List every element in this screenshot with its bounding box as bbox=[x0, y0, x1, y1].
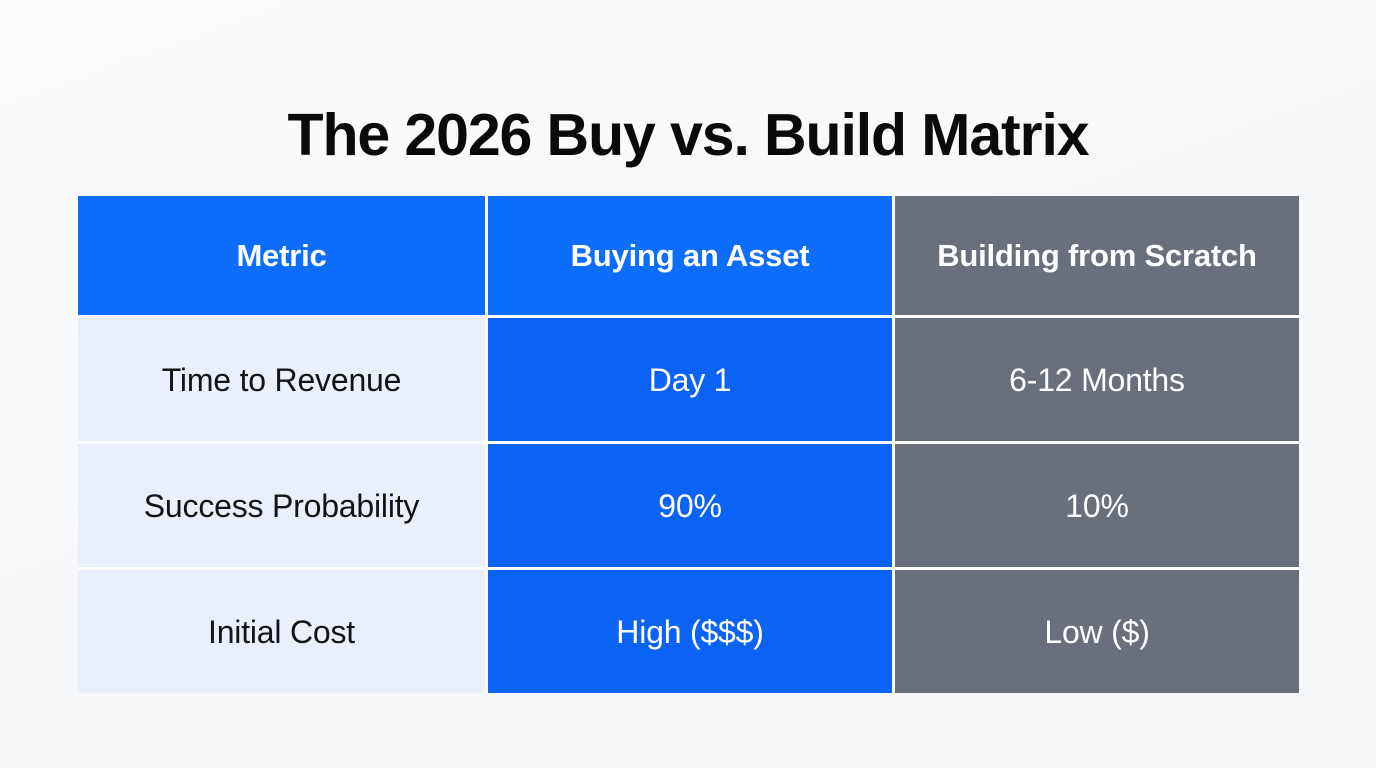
table-body: Time to Revenue Day 1 6-12 Months Succes… bbox=[78, 315, 1299, 693]
column-header-building-from-scratch: Building from Scratch bbox=[892, 196, 1299, 315]
cell-metric-success-probability: Success Probability bbox=[78, 441, 485, 567]
cell-metric-time-to-revenue: Time to Revenue bbox=[78, 315, 485, 441]
cell-building-initial-cost: Low ($) bbox=[892, 567, 1299, 693]
table-row: Initial Cost High ($$$) Low ($) bbox=[78, 567, 1299, 693]
cell-buying-success-probability: 90% bbox=[485, 441, 892, 567]
page-title: The 2026 Buy vs. Build Matrix bbox=[0, 102, 1376, 170]
cell-metric-initial-cost: Initial Cost bbox=[78, 567, 485, 693]
table-header: Metric Buying an Asset Building from Scr… bbox=[78, 196, 1299, 315]
buy-vs-build-matrix-table: Metric Buying an Asset Building from Scr… bbox=[78, 196, 1299, 693]
table-row: Success Probability 90% 10% bbox=[78, 441, 1299, 567]
column-header-metric: Metric bbox=[78, 196, 485, 315]
table-header-row: Metric Buying an Asset Building from Scr… bbox=[78, 196, 1299, 315]
cell-buying-initial-cost: High ($$$) bbox=[485, 567, 892, 693]
cell-buying-time-to-revenue: Day 1 bbox=[485, 315, 892, 441]
column-header-buying-an-asset: Buying an Asset bbox=[485, 196, 892, 315]
slide-canvas: The 2026 Buy vs. Build Matrix Metric Buy… bbox=[0, 0, 1376, 768]
table-row: Time to Revenue Day 1 6-12 Months bbox=[78, 315, 1299, 441]
cell-building-time-to-revenue: 6-12 Months bbox=[892, 315, 1299, 441]
cell-building-success-probability: 10% bbox=[892, 441, 1299, 567]
